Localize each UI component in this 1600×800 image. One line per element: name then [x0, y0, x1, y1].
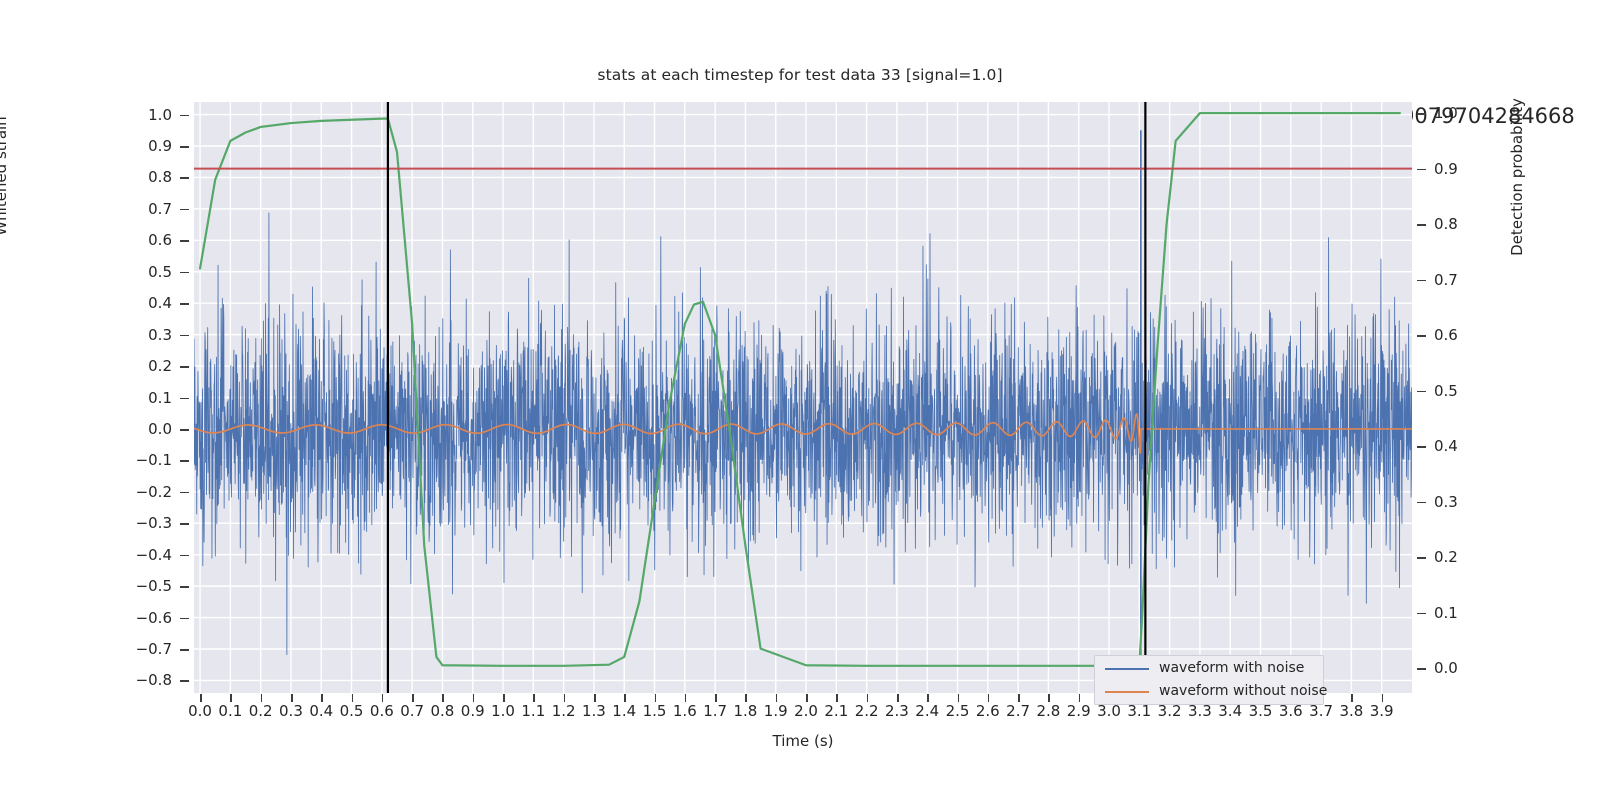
x-axis-tick-label: 2.6 [971, 702, 1005, 720]
y-axis-right-tick-label: 1.0 [1434, 104, 1494, 122]
y-axis-left-tickmark [180, 460, 189, 462]
y-axis-left-tick-label: 0.8 [110, 168, 172, 186]
x-axis-tick-label: 2.4 [910, 702, 944, 720]
y-axis-right-tickmark [1417, 113, 1426, 115]
y-axis-right-tick-label: 0.7 [1434, 271, 1494, 289]
y-axis-right-tickmark [1417, 280, 1426, 282]
x-axis-tick-label: 0.5 [335, 702, 369, 720]
y-axis-left-tick-label: 0.0 [110, 420, 172, 438]
x-axis-tick-label: 1.4 [607, 702, 641, 720]
y-axis-left-tickmark [180, 303, 189, 305]
x-axis-tickmark [715, 694, 717, 702]
y-axis-left-tickmark [180, 366, 189, 368]
x-axis-tick-label: 3.9 [1365, 702, 1399, 720]
x-axis-tick-label: 2.1 [819, 702, 853, 720]
y-axis-right-tick-label: 0.4 [1434, 437, 1494, 455]
y-axis-left-tick-label: 0.6 [110, 231, 172, 249]
x-axis-tickmark [624, 694, 626, 702]
y-axis-right-tickmark [1417, 557, 1426, 559]
x-axis-tick-label: 2.8 [1031, 702, 1065, 720]
y-axis-left-tickmark [180, 618, 189, 620]
x-axis-tick-label: 1.2 [547, 702, 581, 720]
x-axis-tick-label: 2.0 [789, 702, 823, 720]
x-axis-tickmark [1048, 694, 1050, 702]
x-axis-tick-label: 1.3 [577, 702, 611, 720]
y-axis-left-tick-label: 0.4 [110, 294, 172, 312]
x-axis-tickmark [806, 694, 808, 702]
legend-swatch-without-noise [1105, 691, 1149, 693]
y-axis-right-tick-label: 0.8 [1434, 215, 1494, 233]
x-axis-tickmark [291, 694, 293, 702]
y-axis-left-tick-label: 0.3 [110, 326, 172, 344]
legend-item-with-noise: waveform with noise [1095, 657, 1323, 681]
x-axis-tick-label: 1.0 [486, 702, 520, 720]
y-axis-left-tick-label: −0.5 [110, 577, 172, 595]
y-axis-left-label: Whitened strain [0, 66, 10, 286]
y-axis-left-tick-label: −0.1 [110, 451, 172, 469]
x-axis-tick-label: 0.2 [244, 702, 278, 720]
x-axis-tick-label: 0.9 [456, 702, 490, 720]
y-axis-right-tick-label: 0.1 [1434, 604, 1494, 622]
y-axis-right-tick-label: 0.5 [1434, 382, 1494, 400]
y-axis-left-tick-label: 0.7 [110, 200, 172, 218]
y-axis-left-tickmark [180, 177, 189, 179]
y-axis-left-tickmark [180, 335, 189, 337]
x-axis-tickmark [685, 694, 687, 702]
y-axis-left-tickmark [180, 586, 189, 588]
x-axis-tick-label: 0.7 [395, 702, 429, 720]
x-axis-tick-label: 1.6 [668, 702, 702, 720]
x-axis-tick-label: 1.7 [698, 702, 732, 720]
x-axis-tick-label: 2.5 [941, 702, 975, 720]
y-axis-right-tickmark [1417, 502, 1426, 504]
legend: waveform with noise waveform without noi… [1094, 655, 1324, 705]
x-axis-tickmark [321, 694, 323, 702]
x-axis-tickmark [594, 694, 596, 702]
y-axis-left-tick-label: 0.1 [110, 389, 172, 407]
x-axis-tickmark [442, 694, 444, 702]
x-axis-tickmark [261, 694, 263, 702]
x-axis-tick-label: 1.8 [728, 702, 762, 720]
page-title: stats at each timestep for test data 33 … [0, 66, 1600, 84]
y-axis-left-tick-label: −0.7 [110, 640, 172, 658]
x-axis-tick-label: 2.2 [850, 702, 884, 720]
x-axis-tickmark [352, 694, 354, 702]
y-axis-left-tickmark [180, 209, 189, 211]
x-axis-tickmark [1018, 694, 1020, 702]
x-axis-tick-label: 1.5 [638, 702, 672, 720]
legend-item-without-noise: waveform without noise [1095, 680, 1323, 704]
x-axis-tickmark [1079, 694, 1081, 702]
x-axis-tickmark [927, 694, 929, 702]
y-axis-right-tick-label: 0.9 [1434, 160, 1494, 178]
y-axis-right-tickmark [1417, 169, 1426, 171]
plot-area [194, 102, 1412, 693]
x-axis-tick-label: 0.8 [425, 702, 459, 720]
x-axis-label: Time (s) [194, 732, 1412, 750]
x-axis-tickmark [230, 694, 232, 702]
y-axis-right-tickmark [1417, 224, 1426, 226]
y-axis-left-tickmark [180, 398, 189, 400]
y-axis-left-tick-label: −0.4 [110, 546, 172, 564]
y-axis-left-tickmark [180, 680, 189, 682]
y-axis-right-label: Detection probability [1508, 57, 1526, 297]
x-axis-tick-label: 0.6 [365, 702, 399, 720]
x-axis-tickmark [382, 694, 384, 702]
x-axis-tick-label: 0.4 [304, 702, 338, 720]
y-axis-left-tickmark [180, 272, 189, 274]
y-axis-left-tickmark [180, 492, 189, 494]
x-axis-tickmark [1351, 694, 1353, 702]
y-axis-left-tickmark [180, 146, 189, 148]
y-axis-left-tick-label: 0.2 [110, 357, 172, 375]
x-axis-tickmark [533, 694, 535, 702]
y-axis-left-tickmark [180, 429, 189, 431]
x-axis-tick-label: 2.7 [1001, 702, 1035, 720]
y-axis-left-tick-label: 0.9 [110, 137, 172, 155]
y-axis-left-tickmark [180, 555, 189, 557]
data-layer [194, 102, 1412, 693]
x-axis-tickmark [776, 694, 778, 702]
y-axis-left-tick-label: −0.3 [110, 514, 172, 532]
x-axis-tick-label: 2.9 [1062, 702, 1096, 720]
y-axis-right-tick-label: 0.0 [1434, 659, 1494, 677]
x-axis-tickmark [745, 694, 747, 702]
x-axis-tickmark [200, 694, 202, 702]
y-axis-left-tick-label: −0.2 [110, 483, 172, 501]
x-axis-tickmark [564, 694, 566, 702]
x-axis-tick-label: 1.1 [516, 702, 550, 720]
y-axis-right-tickmark [1417, 335, 1426, 337]
y-axis-right-tick-label: 0.2 [1434, 548, 1494, 566]
legend-swatch-with-noise [1105, 668, 1149, 670]
y-axis-right-tick-label: 0.6 [1434, 326, 1494, 344]
x-axis-tickmark [836, 694, 838, 702]
y-axis-right-tickmark [1417, 446, 1426, 448]
x-axis-tickmark [473, 694, 475, 702]
y-axis-left-tick-label: 0.5 [110, 263, 172, 281]
x-axis-tick-label: 0.1 [213, 702, 247, 720]
x-axis-tickmark [503, 694, 505, 702]
x-axis-tick-label: 3.8 [1334, 702, 1368, 720]
figure-canvas: stats at each timestep for test data 33 … [0, 0, 1600, 800]
legend-label-with-noise: waveform with noise [1159, 660, 1304, 676]
x-axis-tick-label: 0.0 [183, 702, 217, 720]
y-axis-left-tick-label: 1.0 [110, 106, 172, 124]
x-axis-tick-label: 1.9 [759, 702, 793, 720]
x-axis-tickmark [988, 694, 990, 702]
x-axis-tickmark [412, 694, 414, 702]
legend-label-without-noise: waveform without noise [1159, 683, 1327, 699]
y-axis-right-tick-label: 0.3 [1434, 493, 1494, 511]
y-axis-right-tickmark [1417, 391, 1426, 393]
y-axis-left-tick-label: −0.8 [110, 671, 172, 689]
y-axis-left-tickmark [180, 523, 189, 525]
y-axis-left-tick-label: −0.6 [110, 609, 172, 627]
x-axis-tick-label: 2.3 [880, 702, 914, 720]
x-axis-tickmark [867, 694, 869, 702]
x-axis-tickmark [958, 694, 960, 702]
y-axis-right-tickmark [1417, 613, 1426, 615]
y-axis-left-tickmark [180, 115, 189, 117]
x-axis-tickmark [897, 694, 899, 702]
y-axis-right-tickmark [1417, 668, 1426, 670]
x-axis-tick-label: 0.3 [274, 702, 308, 720]
x-axis-tickmark [1382, 694, 1384, 702]
y-axis-left-tickmark [180, 649, 189, 651]
y-axis-left-tickmark [180, 240, 189, 242]
x-axis-tickmark [655, 694, 657, 702]
